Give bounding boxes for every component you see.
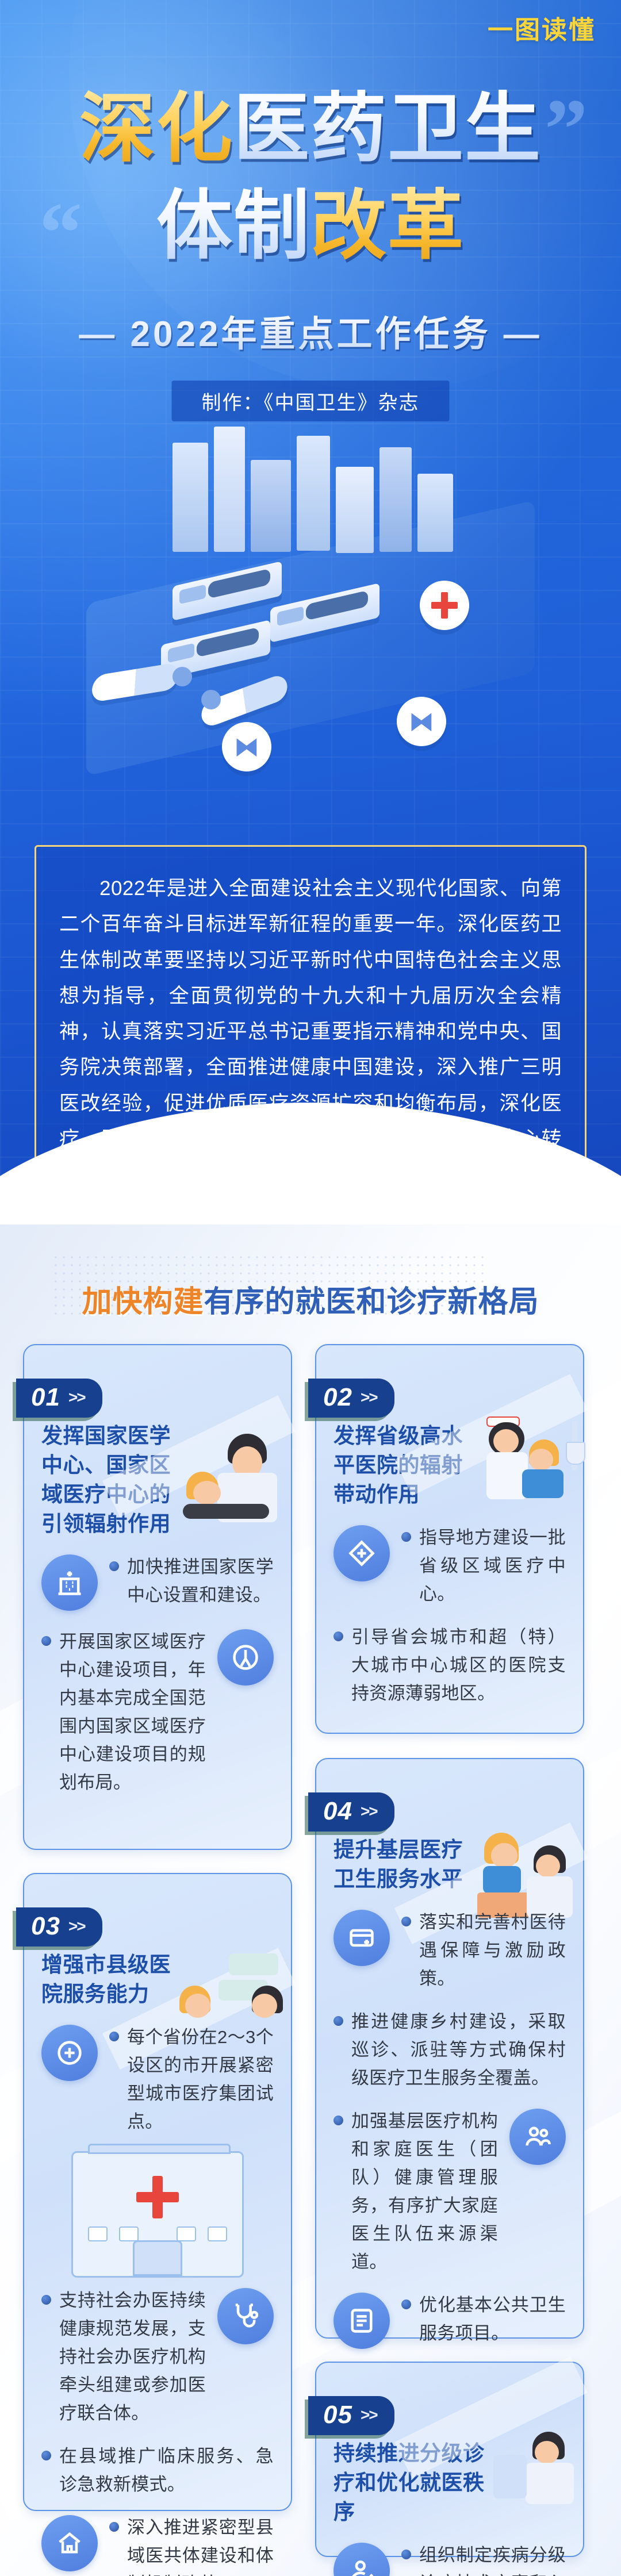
title-white-part-2: 体制 [156, 183, 310, 268]
patient-shirt-04 [483, 1866, 521, 1894]
title-white-part-1: 医药卫生 [233, 86, 542, 171]
list-item: 开展国家区域医疗中心建设项目，年内基本完成全国范围内国家区域医疗中心建设项目的规… [41, 1628, 274, 1797]
bullet-text: 优化基本公共卫生服务项目。 [419, 2291, 566, 2348]
doctor-coat-05 [526, 2463, 574, 2504]
chat-bubble-2 [218, 1980, 268, 2001]
hospital-icon [41, 1554, 98, 1611]
chevron-right-icon: >> [361, 2406, 377, 2424]
read-one-image-badge: 一图读懂 [488, 9, 596, 46]
doctor-face-04 [536, 1855, 560, 1878]
card-04[interactable]: 04 >> 提升基层医疗卫生服务水平 落实和完善村医待遇保障与激励政策。 [315, 1758, 584, 2339]
bullet-dot [333, 2116, 343, 2125]
card-number-tag-01: 01 >> [16, 1379, 102, 1418]
bullet-dot [109, 1561, 119, 1571]
bullet-dot [41, 2295, 51, 2305]
bullet-dot [401, 1532, 411, 1542]
card-02[interactable]: 02 >> 发挥省级高水平医院的辐射带动作用 指导地方建设一批省级区域医疗中心。 [315, 1344, 584, 1734]
pillow-1 [179, 585, 206, 605]
card-number: 02 [323, 1383, 352, 1412]
card-number: 03 [31, 1912, 60, 1941]
team-icon [509, 2109, 566, 2165]
list-item: 支持社会办医持续健康规范发展，支持社会办医疗机构牵头组建或参加医疗联合体。 [41, 2287, 274, 2428]
list-item: 优化基本公共卫生服务项目。 [333, 2291, 566, 2351]
card-number-tag-05: 05 >> [308, 2396, 394, 2435]
chevron-right-icon: >> [361, 1802, 377, 1821]
card-03-bullets: 每个省份在2～3个设区的市开展紧密型城市医疗集团试点。 支持社会办医持续健康规范… [41, 2024, 274, 2576]
person-b-face [252, 1994, 277, 2018]
card-title-01: 发挥国家医学中心、国家区域医疗中心的引领辐射作用 [41, 1345, 185, 1538]
card-number: 05 [323, 2401, 352, 2429]
card-05-illustration [489, 2432, 575, 2506]
doctor-face-05 [535, 2441, 559, 2464]
hospital-window-1 [88, 2226, 108, 2241]
hospital-cross-icon [136, 2176, 179, 2218]
bullet-dot [333, 1631, 343, 1641]
card-number: 01 [31, 1383, 60, 1412]
nurse-hair [489, 1422, 524, 1456]
doctor-coat [217, 1473, 277, 1522]
bullet-text: 加快推进国家医学中心设置和建设。 [127, 1553, 274, 1610]
card-03[interactable]: 03 >> 增强市县级医院服务能力 每个省份在2～3个设区的市开展紧密型城市医疗… [23, 1873, 292, 2511]
bullet-dot [109, 2522, 119, 2532]
card-number: 04 [323, 1797, 352, 1826]
nurse-uniform [486, 1452, 528, 1499]
iv-bag [566, 1442, 585, 1465]
building-2 [214, 427, 245, 552]
list-item: 加快推进国家医学中心设置和建设。 [41, 1553, 274, 1613]
card-01-illustration [183, 1431, 281, 1518]
chevron-right-icon: >> [361, 1388, 377, 1407]
bullet-text: 加强基层医疗机构和家庭医生（团队）健康管理服务，有序扩大家庭医生队伍来源渠道。 [351, 2107, 498, 2276]
bullet-text: 支持社会办医持续健康规范发展，支持社会办医疗机构牵头组建或参加医疗联合体。 [59, 2287, 206, 2428]
card-title-02: 发挥省级高水平医院的辐射带动作用 [333, 1345, 477, 1509]
patient-face [193, 1481, 221, 1505]
hospital-roof [88, 2144, 231, 2154]
card-05[interactable]: 05 >> 持续推进分级诊疗和优化就医秩序 组织制定疾病分级诊疗技术方案和入出院… [315, 2362, 584, 2557]
doctor-hair-04 [534, 1845, 566, 1873]
bullet-text: 开展国家区域医疗中心建设项目，年内基本完成全国范围内国家区域医疗中心建设项目的规… [59, 1628, 206, 1797]
card-number-tag-02: 02 >> [308, 1379, 394, 1418]
compass-icon [217, 1629, 274, 1686]
building-5 [336, 467, 374, 553]
list-item: 引导省会城市和超（特）大城市中心城区的医院支持资源薄弱地区。 [333, 1623, 566, 1708]
content-section: 加快构建有序的就医和诊疗新格局 01 >> 发挥国家医学中心、国家区域医疗中心的… [0, 1224, 621, 2576]
dna-icon-2: ⧓ [222, 722, 271, 771]
card-plus-icon [333, 1910, 390, 1966]
medical-cross-icon [420, 581, 469, 630]
list-item: 推进健康乡村建设，采取巡诊、派驻等方式确保村级医疗卫生服务全覆盖。 [333, 2008, 566, 2093]
list-check-icon [333, 2293, 390, 2349]
list-item: 落实和完善村医待遇保障与激励政策。 [333, 1909, 566, 1993]
bullet-dot [401, 2550, 411, 2559]
bullet-text: 引导省会城市和超（特）大城市中心城区的医院支持资源薄弱地区。 [351, 1623, 566, 1708]
list-item: 组织制定疾病分级诊疗技术方案和入出院标准。 [333, 2542, 566, 2576]
stethoscope-icon [217, 2288, 274, 2344]
nurse-cap [486, 1416, 520, 1427]
building-1 [172, 443, 208, 552]
pillow-3 [168, 643, 194, 663]
bullet-dot [401, 1917, 411, 1926]
building-4 [297, 436, 330, 551]
patient-hair [186, 1472, 218, 1499]
home-icon [41, 2515, 98, 2571]
hero-title: 深化医药卫生 体制改革 [0, 80, 621, 275]
patient-face-04 [491, 1843, 517, 1868]
iv-pole [572, 1421, 577, 1471]
hospital-window-2 [119, 2226, 139, 2241]
section-heading-blue: 有序的就医和诊疗新格局 [204, 1285, 539, 1319]
list-item: 指导地方建设一批省级区域医疗中心。 [333, 1524, 566, 1608]
person-a-face [185, 1994, 210, 2018]
building-6 [379, 447, 412, 552]
dental-chair [183, 1504, 269, 1519]
patient-face-02 [529, 1449, 553, 1471]
patient-hair-02 [529, 1439, 559, 1466]
hospital-illustration: ⧓ ⧓ [0, 437, 621, 736]
medical-cross-badge-icon [333, 1525, 390, 1581]
patient-hair-04 [484, 1833, 519, 1864]
chat-bubble-1 [229, 1953, 278, 1975]
title-line-2: 体制改革 [0, 178, 621, 275]
bullet-dot [109, 2032, 119, 2041]
card-02-bullets: 指导地方建设一批省级区域医疗中心。 引导省会城市和超（特）大城市中心城区的医院支… [333, 1524, 566, 1708]
list-item: 在县域推广临床服务、急诊急救新模式。 [41, 2443, 274, 2499]
card-05-bullets: 组织制定疾病分级诊疗技术方案和入出院标准。 推进紧密型县域医共体总额付费，加强监… [333, 2542, 566, 2576]
section-heading: 加快构建有序的就医和诊疗新格局 [0, 1277, 621, 1320]
person-b-hair [252, 1986, 283, 2013]
bullet-text: 落实和完善村医待遇保障与激励政策。 [419, 1909, 566, 1993]
doctor-hair-05 [532, 2432, 565, 2459]
hospital-window-3 [177, 2226, 196, 2241]
person-check-icon [333, 2543, 390, 2576]
bullet-dot [401, 2299, 411, 2309]
doctor-hair [228, 1434, 267, 1464]
hero-subtitle: — 2022年重点工作任务 — [0, 305, 621, 356]
nurse-face [493, 1429, 519, 1453]
bullet-text: 推进健康乡村建设，采取巡诊、派驻等方式确保村级医疗卫生服务全覆盖。 [351, 2008, 566, 2093]
card-title-05: 持续推进分级诊疗和优化就医秩序 [333, 2363, 496, 2527]
bullet-dot [333, 2016, 343, 2026]
patient-shirt-02 [522, 1469, 563, 1498]
list-item: 深入推进紧密型县域医共体建设和体制机制改革。 [41, 2514, 274, 2576]
hero-banner: 一图读懂 “ ” 深化医药卫生 体制改革 — 2022年重点工作任务 — 制作：… [0, 0, 621, 1224]
bullet-text: 深入推进紧密型县域医共体建设和体制机制改革。 [127, 2514, 274, 2576]
title-gold-part-2: 改革 [310, 183, 465, 268]
card-04-bullets: 落实和完善村医待遇保障与激励政策。 推进健康乡村建设，采取巡诊、派驻等方式确保村… [333, 1909, 566, 2351]
hero-credit: 制作：《中国卫生》杂志 [172, 381, 450, 421]
hospital-window-4 [208, 2226, 227, 2241]
list-item: 加强基层医疗机构和家庭医生（团队）健康管理服务，有序扩大家庭医生队伍来源渠道。 [333, 2107, 566, 2276]
card-01-bullets: 加快推进国家医学中心设置和建设。 开展国家区域医疗中心建设项目，年内基本完成全国… [41, 1553, 274, 1797]
building-7 [417, 474, 453, 552]
clipboard [493, 2455, 527, 2498]
dna-icon: ⧓ [397, 697, 446, 746]
bullet-dot [41, 2451, 51, 2460]
doctor-face [232, 1446, 262, 1479]
hospital-building-graphic [71, 2151, 244, 2278]
card-number-tag-04: 04 >> [308, 1792, 394, 1832]
card-02-illustration [477, 1416, 575, 1503]
card-01[interactable]: 01 >> 发挥国家医学中心、国家区域医疗中心的引领辐射作用 加快推进国家医学中… [23, 1344, 292, 1850]
card-04-illustration [474, 1833, 575, 1919]
chevron-right-icon: >> [68, 1388, 85, 1407]
pillow-2 [277, 606, 304, 627]
bullet-text: 组织制定疾病分级诊疗技术方案和入出院标准。 [419, 2542, 566, 2576]
bullet-text: 在县域推广临床服务、急诊急救新模式。 [59, 2443, 274, 2499]
node-dot-1 [172, 667, 192, 686]
bullet-text: 每个省份在2～3个设区的市开展紧密型城市医疗集团试点。 [127, 2024, 274, 2136]
hospital-door [133, 2240, 182, 2276]
section-heading-orange: 加快构建 [82, 1285, 204, 1319]
chevron-right-icon: >> [68, 1917, 85, 1936]
node-dot-2 [201, 690, 221, 709]
card-number-tag-03: 03 >> [16, 1907, 102, 1947]
title-gold-part-1: 深化 [79, 86, 233, 171]
bullet-dot [41, 1636, 51, 1646]
list-item: 每个省份在2～3个设区的市开展紧密型城市医疗集团试点。 [41, 2024, 274, 2136]
bullet-text: 指导地方建设一批省级区域医疗中心。 [419, 1524, 566, 1608]
card-03-illustration [179, 1953, 283, 2028]
title-line-1: 深化医药卫生 [0, 80, 621, 178]
plus-circle-icon [41, 2025, 98, 2081]
building-3 [251, 460, 291, 552]
